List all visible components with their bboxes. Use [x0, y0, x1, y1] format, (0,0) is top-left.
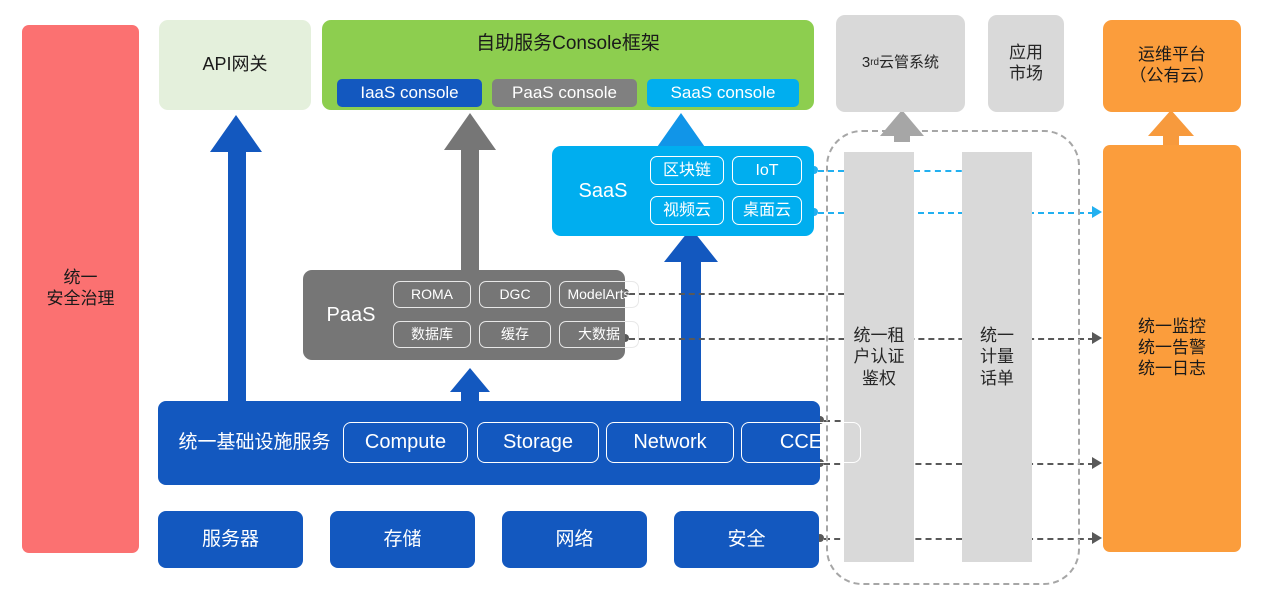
paas-panel[interactable]: PaaS ROMA DGC ModelArts 数据库 缓存 大数据: [303, 270, 625, 360]
paas-service-database[interactable]: 数据库: [393, 321, 471, 348]
app-market-box[interactable]: 应用 市场: [988, 15, 1064, 112]
infrastructure-label: 统一基础设施服务: [172, 401, 337, 485]
api-gateway-box[interactable]: API网关: [159, 20, 311, 110]
connector-arrowhead-ops-4: [1092, 532, 1102, 544]
arrow-infra-to-api-gateway: [210, 115, 262, 401]
infra-service-cce[interactable]: CCE: [741, 422, 861, 463]
unified-tenant-auth-column[interactable]: 统一租 户认证 鉴权: [844, 152, 914, 562]
paas-service-modelarts[interactable]: ModelArts: [559, 281, 639, 308]
unified-billing-column[interactable]: 统一 计量 话单: [962, 152, 1032, 562]
base-resource-security[interactable]: 安全: [674, 511, 819, 568]
ops-platform-box[interactable]: 运维平台 （公有云）: [1103, 20, 1241, 112]
base-resource-server[interactable]: 服务器: [158, 511, 303, 568]
paas-service-cache[interactable]: 缓存: [479, 321, 551, 348]
saas-service-blockchain[interactable]: 区块链: [650, 156, 724, 185]
cloud-mgmt-suffix: 云管系统: [879, 54, 939, 72]
paas-service-roma[interactable]: ROMA: [393, 281, 471, 308]
infra-service-compute[interactable]: Compute: [343, 422, 468, 463]
infra-service-network[interactable]: Network: [606, 422, 734, 463]
connector-arrowhead-ops-3: [1092, 457, 1102, 469]
ops-monitoring-column[interactable]: 统一监控 统一告警 统一日志: [1103, 145, 1241, 552]
saas-console-chip[interactable]: SaaS console: [647, 79, 799, 107]
unified-infrastructure-bar[interactable]: 统一基础设施服务 Compute Storage Network CCE: [158, 401, 820, 485]
iaas-console-chip[interactable]: IaaS console: [337, 79, 482, 107]
saas-service-video-cloud[interactable]: 视频云: [650, 196, 724, 225]
paas-console-chip[interactable]: PaaS console: [492, 79, 637, 107]
arrow-ops-column-to-platform: [1148, 110, 1194, 148]
base-resource-network[interactable]: 网络: [502, 511, 647, 568]
base-resource-storage[interactable]: 存储: [330, 511, 475, 568]
infra-service-storage[interactable]: Storage: [477, 422, 599, 463]
arrow-infra-to-saas: [664, 228, 718, 402]
cloud-mgmt-superscript: rd: [870, 57, 879, 69]
arrow-infra-to-paas: [450, 368, 490, 402]
paas-panel-label: PaaS: [313, 270, 389, 360]
paas-service-bigdata[interactable]: 大数据: [559, 321, 639, 348]
third-party-cloud-management-box[interactable]: 3rd云管系统: [836, 15, 965, 112]
saas-service-iot[interactable]: IoT: [732, 156, 802, 185]
unified-security-governance[interactable]: 统一 安全治理: [22, 25, 139, 553]
connector-arrowhead-ops-2: [1092, 332, 1102, 344]
arrow-paas-to-console: [444, 113, 496, 270]
console-frame-title: 自助服务Console框架: [322, 20, 814, 68]
saas-panel[interactable]: SaaS 区块链 IoT 视频云 桌面云: [552, 146, 814, 236]
self-service-console-frame[interactable]: 自助服务Console框架 IaaS console PaaS console …: [322, 20, 814, 110]
saas-service-desktop-cloud[interactable]: 桌面云: [732, 196, 802, 225]
connector-arrowhead-ops-1: [1092, 206, 1102, 218]
architecture-diagram: 统一租 户认证 鉴权 统一 计量 话单 统一 安全治理 API网关 自助服务Co…: [0, 0, 1265, 605]
cloud-mgmt-prefix: 3: [862, 54, 870, 72]
paas-service-dgc[interactable]: DGC: [479, 281, 551, 308]
saas-panel-label: SaaS: [564, 146, 642, 236]
